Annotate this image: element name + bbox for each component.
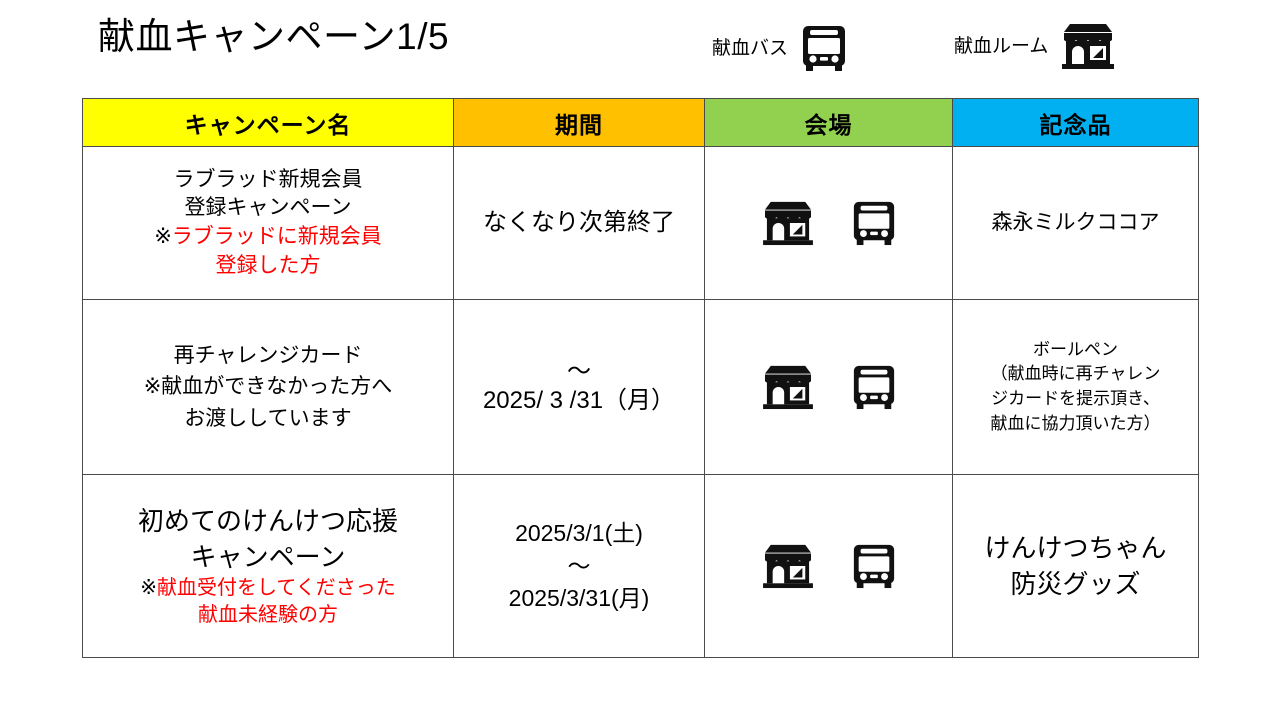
legend-item-room: 献血ルーム: [954, 22, 1116, 70]
cell-gift: ボールペン （献血時に再チャレン ジカードを提示頂き、 献血に協力頂いた方）: [953, 300, 1199, 475]
legend-label-bus: 献血バス: [712, 39, 788, 58]
column-header-campaign: キャンペーン名: [83, 99, 454, 147]
campaign-table: キャンペーン名 期間 会場 記念品 ラブラッド新規会員 登録キャンペーン ※ラブ…: [82, 98, 1199, 658]
period-line: 〜: [567, 358, 591, 387]
blood-donation-room-icon: [761, 364, 815, 410]
bus-icon: [851, 198, 897, 248]
cell-campaign-name: 初めてのけんけつ応援 キャンペーン ※献血受付をしてくださった 献血未経験の方: [83, 475, 454, 658]
table-row: 初めてのけんけつ応援 キャンペーン ※献血受付をしてくださった 献血未経験の方 …: [83, 475, 1199, 658]
blood-donation-room-icon: [761, 543, 815, 589]
column-header-period: 期間: [454, 99, 705, 147]
cell-campaign-name: ラブラッド新規会員 登録キャンペーン ※ラブラッドに新規会員 登録した方: [83, 147, 454, 300]
page-title: 献血キャンペーン1/5: [98, 14, 449, 60]
gift-line: ジカードを提示頂き、: [991, 387, 1160, 412]
legend-label-room: 献血ルーム: [954, 37, 1048, 56]
campaign-line: ラブラッド新規会員: [174, 166, 363, 195]
period-line: 2025/3/1(土): [515, 517, 643, 550]
column-header-gift: 記念品: [953, 99, 1199, 147]
table-row: ラブラッド新規会員 登録キャンペーン ※ラブラッドに新規会員 登録した方 なくな…: [83, 147, 1199, 300]
period-line: なくなり次第終了: [483, 207, 675, 238]
period-line: 〜: [568, 550, 591, 583]
cell-period: 2025/3/1(土) 〜 2025/3/31(月): [454, 475, 705, 658]
blood-donation-room-icon: [1060, 22, 1116, 70]
gift-line: 防災グッズ: [1010, 566, 1140, 602]
campaign-line: 再チャレンジカード: [174, 340, 363, 371]
period-line: 2025/3/31(月): [509, 582, 650, 615]
cell-gift: 森永ミルクココア: [953, 147, 1199, 300]
column-header-venue: 会場: [705, 99, 953, 147]
bus-icon: [851, 362, 897, 412]
gift-line: けんけつちゃん: [984, 530, 1166, 566]
table-header-row: キャンペーン名 期間 会場 記念品: [83, 99, 1199, 147]
campaign-note-line: ※献血ができなかった方へ: [144, 371, 393, 402]
cell-period: 〜 2025/ 3 /31（月）: [454, 300, 705, 475]
campaign-line: キャンペーン: [191, 539, 346, 575]
campaign-line: 初めてのけんけつ応援: [138, 503, 398, 539]
gift-line: 献血に協力頂いた方）: [991, 412, 1161, 437]
bus-icon: [851, 541, 897, 591]
campaign-note-line: ※ラブラッドに新規会員: [154, 223, 382, 252]
gift-line: （献血時に再チャレン: [991, 362, 1161, 387]
campaign-note-line: 登録した方: [216, 252, 321, 281]
cell-gift: けんけつちゃん 防災グッズ: [953, 475, 1199, 658]
cell-campaign-name: 再チャレンジカード ※献血ができなかった方へ お渡ししています: [83, 300, 454, 475]
cell-venue: [705, 300, 953, 475]
campaign-line: 登録キャンペーン: [185, 194, 352, 223]
page-header: 献血キャンペーン1/5 献血バス 献血ルーム: [0, 0, 1280, 96]
table-row: 再チャレンジカード ※献血ができなかった方へ お渡ししています 〜 2025/ …: [83, 300, 1199, 475]
period-line: 2025/ 3 /31（月）: [483, 387, 675, 416]
cell-period: なくなり次第終了: [454, 147, 705, 300]
cell-venue: [705, 147, 953, 300]
gift-line: ボールペン: [1033, 338, 1118, 363]
gift-line: 森永ミルクココア: [992, 209, 1160, 236]
legend-item-bus: 献血バス: [712, 22, 848, 74]
campaign-note-line: お渡ししています: [184, 403, 351, 434]
cell-venue: [705, 475, 953, 658]
campaign-note-line: 献血未経験の方: [198, 602, 338, 629]
campaign-note-line: ※献血受付をしてくださった: [140, 575, 396, 602]
blood-donation-room-icon: [761, 200, 815, 246]
bus-icon: [800, 22, 848, 74]
